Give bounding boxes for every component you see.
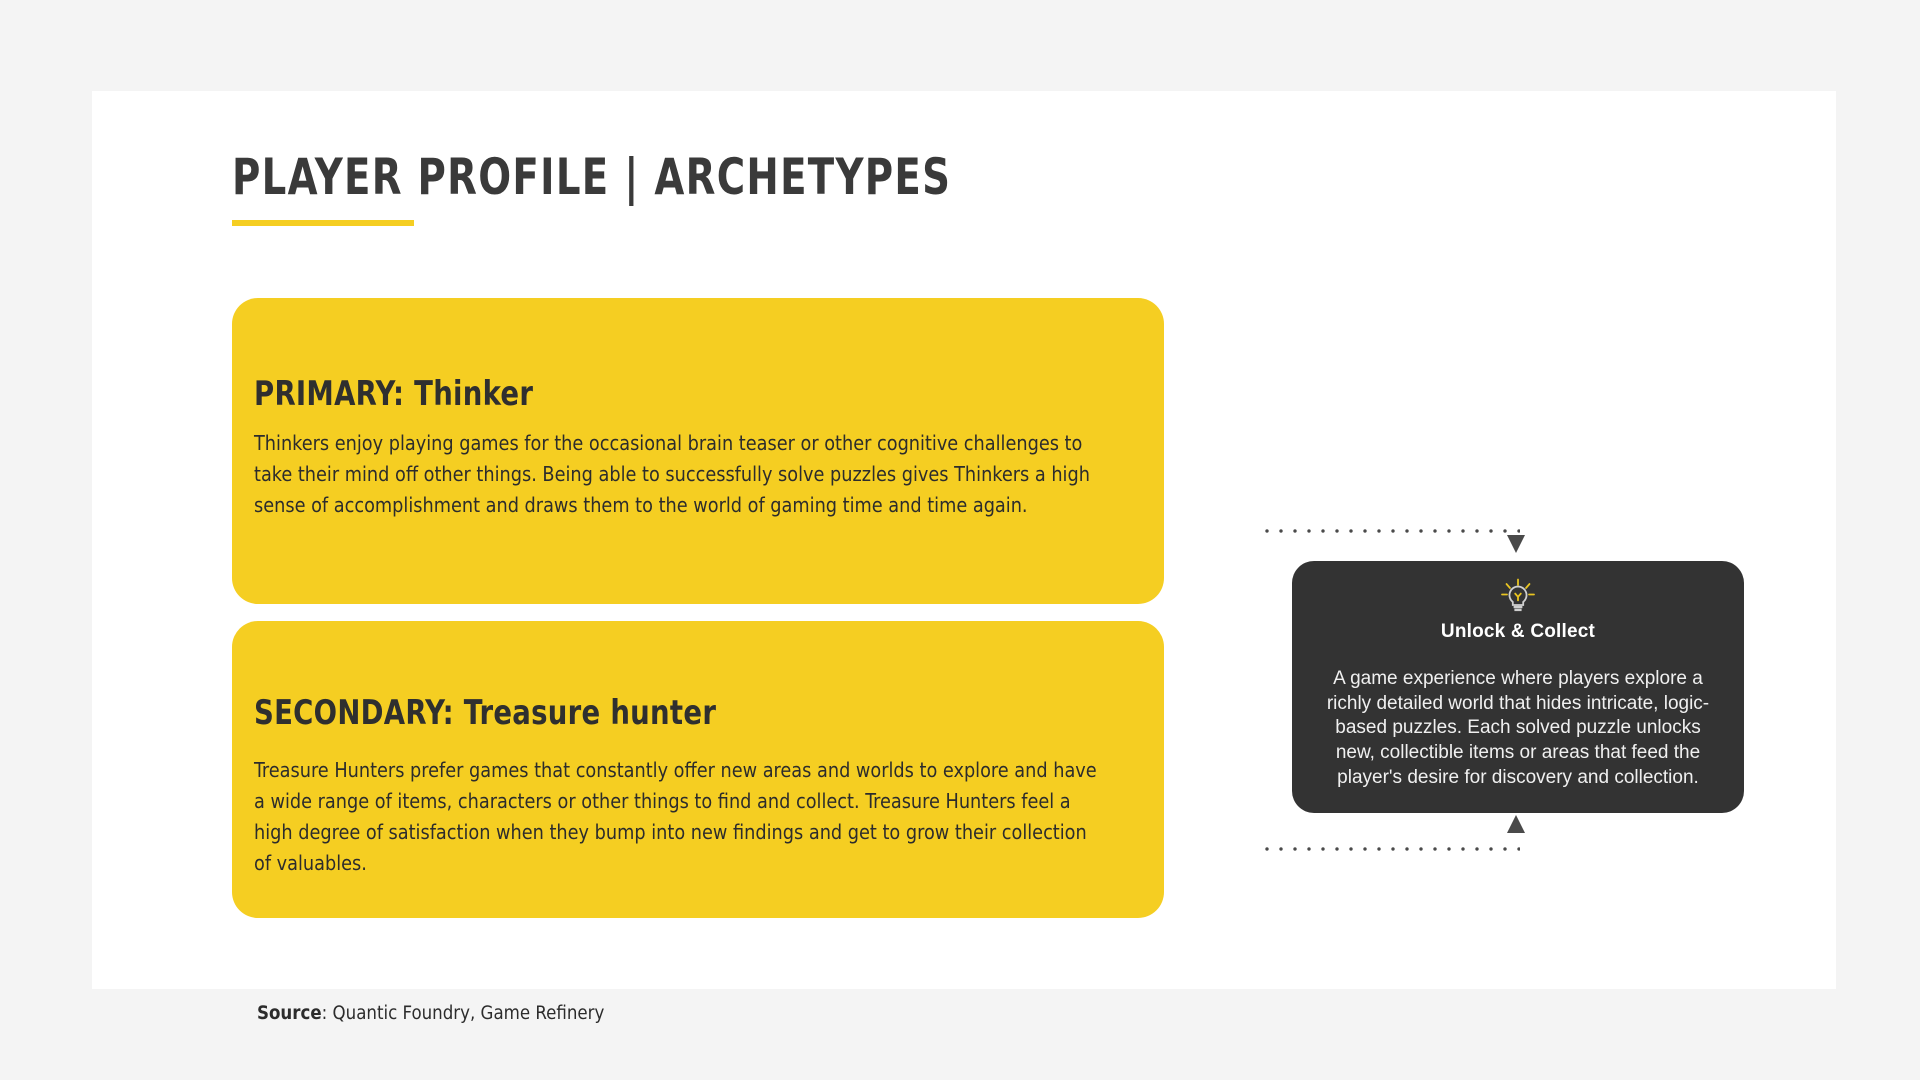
slide-canvas: PLAYER PROFILE | ARCHETYPES PRIMARY: Thi… — [92, 91, 1836, 989]
archetype-body-secondary: Treasure Hunters prefer games that const… — [254, 755, 1099, 880]
concept-tooltip-card[interactable]: Unlock & Collect A game experience where… — [1292, 561, 1744, 813]
title-accent-bar — [232, 220, 414, 226]
archetype-body-primary: Thinkers enjoy playing games for the occ… — [254, 428, 1099, 521]
connector-arrow-up-icon — [1507, 815, 1525, 833]
source-text: : Quantic Foundry, Game Refinery — [322, 1003, 605, 1024]
source-label: Source — [257, 1003, 322, 1024]
archetype-card-secondary[interactable]: SECONDARY: Treasure hunter Treasure Hunt… — [232, 621, 1164, 918]
header: PLAYER PROFILE | ARCHETYPES — [232, 151, 1068, 226]
lightbulb-icon — [1498, 577, 1538, 617]
connector-line-top — [1260, 529, 1520, 533]
connector-arrow-down-icon — [1507, 535, 1525, 553]
source-attribution: Source: Quantic Foundry, Game Refinery — [257, 1003, 604, 1024]
archetype-heading-primary: PRIMARY: Thinker — [254, 374, 1053, 414]
archetype-heading-secondary: SECONDARY: Treasure hunter — [254, 693, 1053, 733]
tooltip-title: Unlock & Collect — [1320, 621, 1716, 643]
archetype-card-primary[interactable]: PRIMARY: Thinker Thinkers enjoy playing … — [232, 298, 1164, 604]
page-title: PLAYER PROFILE | ARCHETYPES — [232, 151, 951, 204]
tooltip-body: A game experience where players explore … — [1320, 667, 1716, 790]
connector-line-bottom — [1260, 847, 1520, 851]
